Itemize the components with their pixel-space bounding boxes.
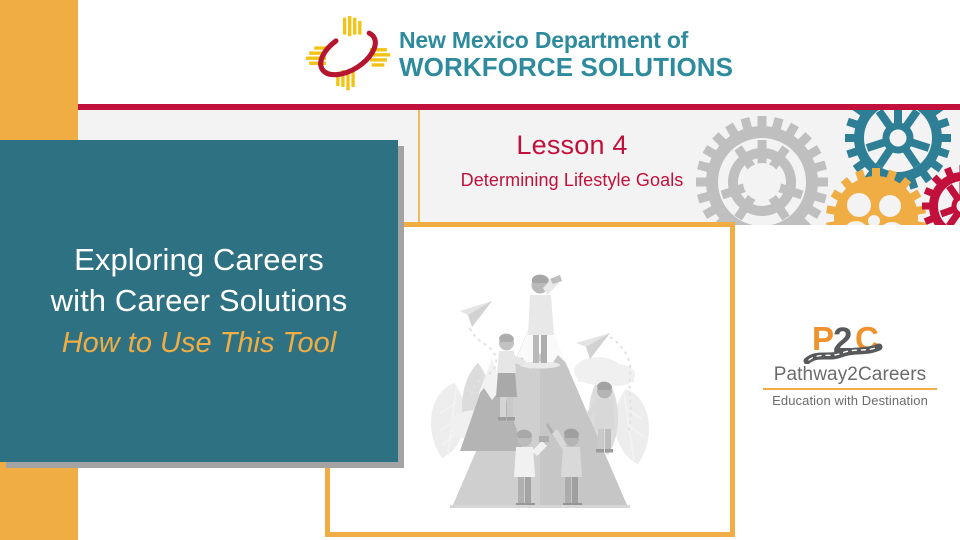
zia-sun-symbol-icon xyxy=(305,16,391,92)
nm-logo-line-1: New Mexico Department of xyxy=(399,29,733,52)
content-frame-bottom-edge xyxy=(325,532,735,537)
p2c-tagline-label: Education with Destination xyxy=(755,393,945,409)
pathway2careers-logo: P 2 C Pathway2Careers Education with Des… xyxy=(755,318,945,410)
slide-title-line-1: Exploring Careers xyxy=(74,239,324,280)
slide-title-line-2: with Career Solutions xyxy=(51,280,348,321)
gears-decoration-icon xyxy=(680,110,960,225)
content-frame-right-edge xyxy=(730,222,735,537)
svg-text:P: P xyxy=(812,320,834,357)
title-card: Exploring Careers with Career Solutions … xyxy=(0,140,398,462)
mountain-climbers-illustration xyxy=(420,233,660,528)
nm-workforce-solutions-logo: New Mexico Department of WORKFORCE SOLUT… xyxy=(305,15,725,93)
nm-logo-line-2: WORKFORCE SOLUTIONS xyxy=(399,54,733,80)
slide-subtitle: How to Use This Tool xyxy=(62,323,337,363)
header-logo-zone: New Mexico Department of WORKFORCE SOLUT… xyxy=(78,0,960,105)
p2c-name-label: Pathway2Careers xyxy=(755,364,945,386)
p2c-divider-rule xyxy=(763,388,937,390)
slide-canvas: New Mexico Department of WORKFORCE SOLUT… xyxy=(0,0,960,540)
p2c-monogram-icon: P 2 C xyxy=(755,318,945,364)
nm-logo-wordmark: New Mexico Department of WORKFORCE SOLUT… xyxy=(399,29,733,80)
